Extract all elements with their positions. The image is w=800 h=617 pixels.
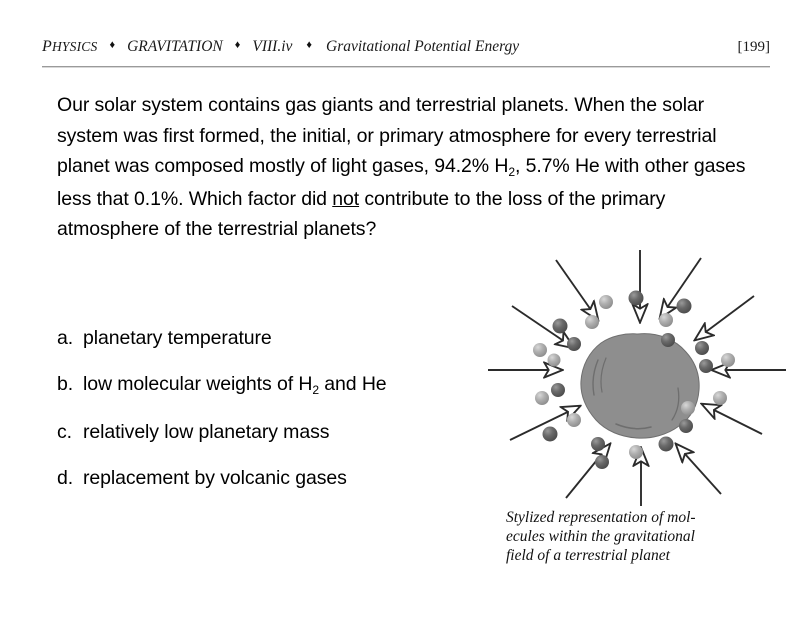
- header-separator-icon: ♦: [97, 39, 127, 51]
- answer-choices: a. planetary temperature b. low molecula…: [57, 326, 477, 512]
- molecule: [721, 353, 735, 367]
- molecule: [681, 401, 695, 415]
- choice-c[interactable]: c. relatively low planetary mass: [57, 420, 477, 444]
- gravity-arrow-se: [676, 444, 721, 494]
- molecule: [677, 299, 692, 314]
- question-subscript-h2: 2: [508, 165, 515, 179]
- molecule: [629, 291, 644, 306]
- molecule: [659, 313, 673, 327]
- molecule: [585, 315, 599, 329]
- header-divider: [42, 66, 770, 67]
- question-emphasis-not: not: [332, 188, 359, 210]
- choice-b-letter: b.: [57, 372, 83, 396]
- molecule: [591, 437, 605, 451]
- planet-diagram: [488, 248, 788, 508]
- choice-d-letter: d.: [57, 466, 83, 490]
- choice-c-text: relatively low planetary mass: [83, 420, 477, 444]
- question-text: Our solar system contains gas giants and…: [57, 90, 753, 245]
- choice-b-text: low molecular weights of H2 and He: [83, 372, 477, 398]
- choice-b-text-b: and He: [319, 373, 387, 395]
- header-section: VIII.iv: [252, 38, 292, 56]
- molecule: [543, 427, 558, 442]
- choice-a-letter: a.: [57, 326, 83, 350]
- molecule: [567, 337, 581, 351]
- gravity-arrow-ssw: [566, 444, 610, 498]
- gravity-arrow-nnw: [556, 260, 598, 320]
- molecule: [533, 343, 547, 357]
- gravity-arrow-ne: [695, 296, 754, 340]
- header-separator-icon-2: ♦: [223, 39, 253, 51]
- choice-b[interactable]: b. low molecular weights of H2 and He: [57, 372, 477, 398]
- question-line-1: Our solar system contains gas giants and…: [57, 94, 657, 116]
- running-header: PHYSICS ♦ GRAVITATION ♦ VIII.iv ♦ Gravit…: [42, 38, 770, 68]
- question-line-4b: contribute to the: [359, 188, 502, 210]
- header-title: Gravitational Potential Energy: [326, 38, 519, 56]
- molecule: [699, 359, 713, 373]
- choice-d[interactable]: d. replacement by volcanic gases: [57, 466, 477, 490]
- choice-a[interactable]: a. planetary temperature: [57, 326, 477, 350]
- figure-caption-line-3: field of a terrestrial planet: [506, 546, 758, 565]
- choice-a-text: planetary temperature: [83, 326, 477, 350]
- molecule: [535, 391, 549, 405]
- molecule: [595, 455, 609, 469]
- molecule: [713, 391, 727, 405]
- header-subject: PHYSICS: [42, 38, 97, 56]
- header-subject-rest: HYSICS: [52, 39, 97, 54]
- molecule: [567, 413, 581, 427]
- gravity-arrow-ese: [702, 404, 762, 434]
- page-number: [199]: [738, 39, 771, 56]
- choice-b-text-a: low molecular weights of H: [83, 373, 312, 395]
- molecule: [659, 437, 674, 452]
- choice-c-letter: c.: [57, 420, 83, 444]
- molecule: [695, 341, 709, 355]
- molecule: [548, 354, 561, 367]
- header-topic: GRAVITATION: [127, 38, 223, 56]
- figure-caption: Stylized representation of mol- ecules w…: [506, 508, 758, 565]
- question-line-3b: , 5.7% He: [515, 155, 600, 177]
- molecule: [661, 333, 675, 347]
- molecule: [599, 295, 613, 309]
- molecule: [629, 445, 643, 459]
- molecule: [679, 419, 693, 433]
- molecule: [553, 319, 568, 334]
- header-subject-initial: P: [42, 38, 52, 55]
- choice-b-subscript-h2: 2: [312, 383, 319, 397]
- figure-caption-line-2: ecules within the gravitational: [506, 527, 758, 546]
- choice-d-text: replacement by volcanic gases: [83, 466, 477, 490]
- molecule: [551, 383, 565, 397]
- figure-caption-line-1: Stylized representation of mol-: [506, 508, 758, 527]
- header-separator-icon-3: ♦: [292, 39, 326, 51]
- textbook-page: PHYSICS ♦ GRAVITATION ♦ VIII.iv ♦ Gravit…: [0, 0, 800, 617]
